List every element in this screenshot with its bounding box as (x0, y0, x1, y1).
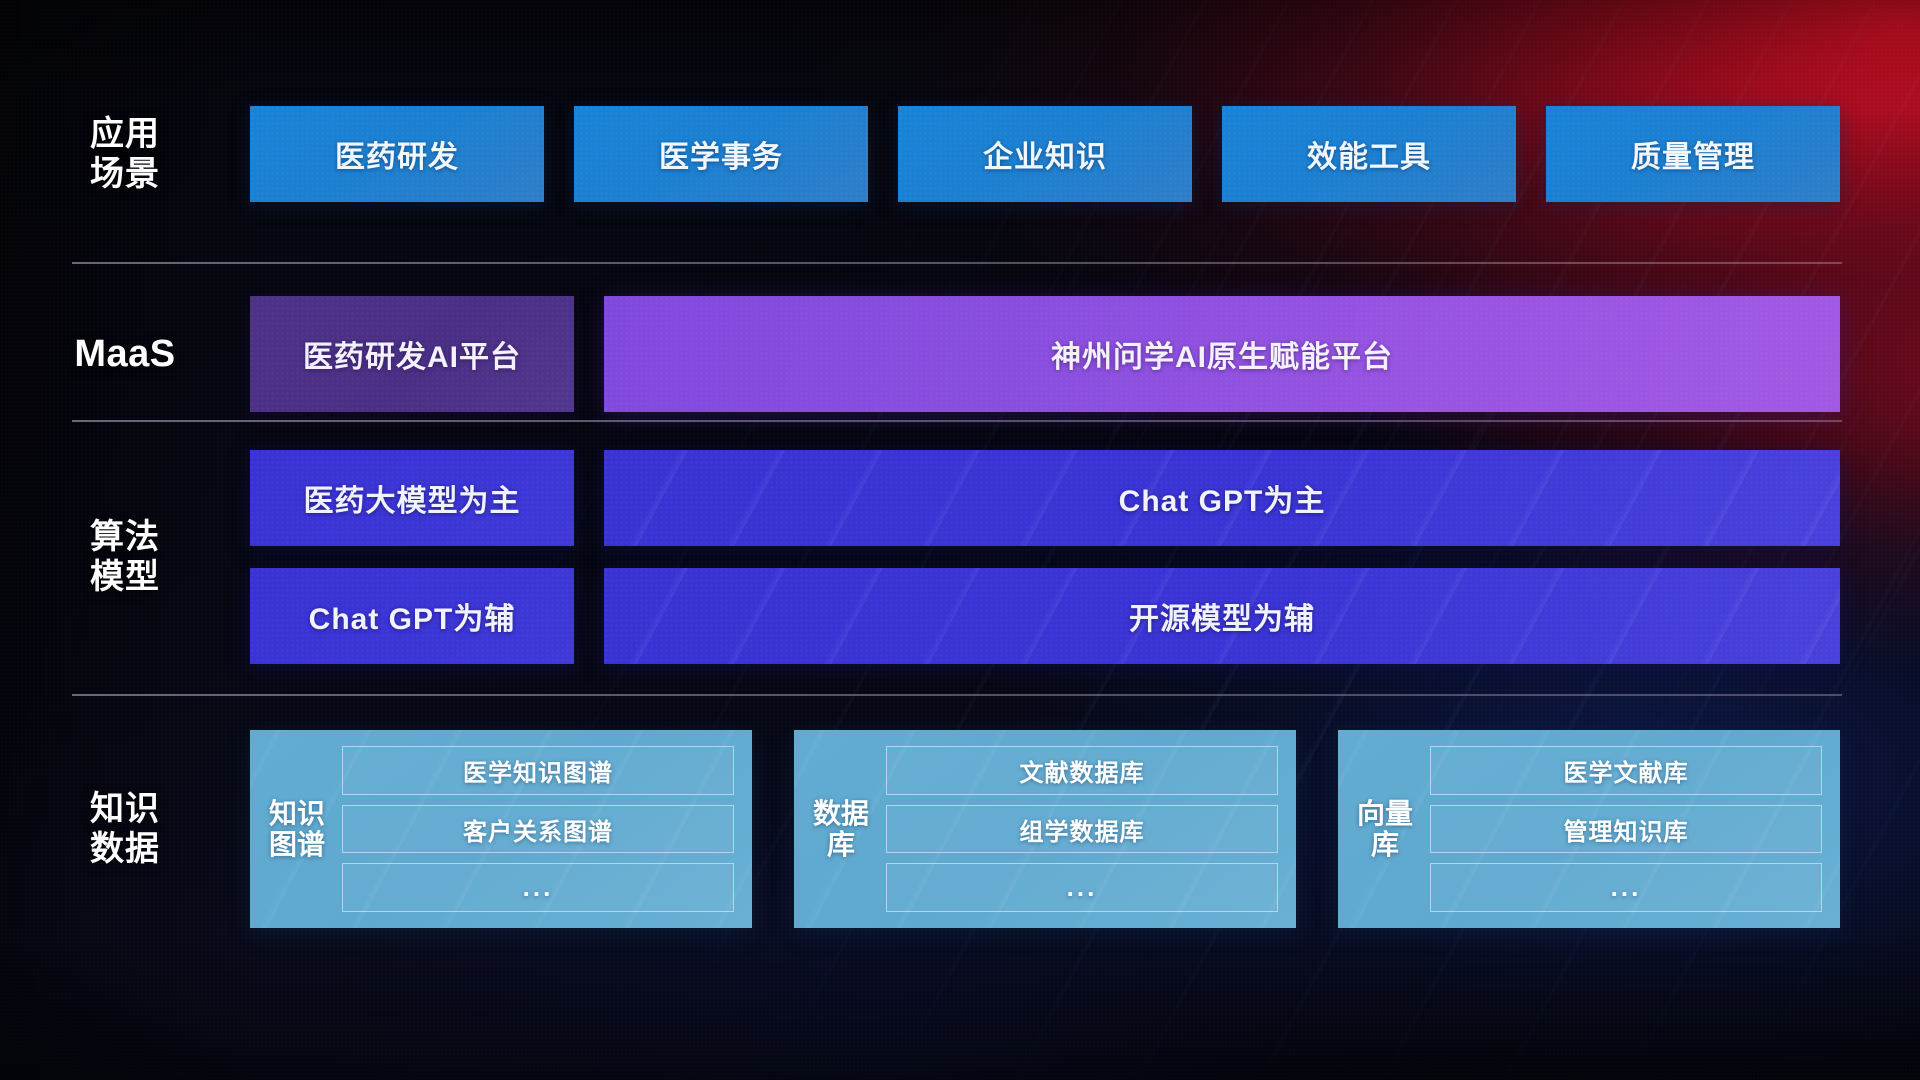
layer-body-maas: 医药研发AI平台 神州问学AI原生赋能平台 (190, 296, 1920, 412)
maas-card-list: 医药研发AI平台 神州问学AI原生赋能平台 (250, 296, 1840, 412)
knowledge-item-more[interactable]: ... (342, 863, 734, 912)
knowledge-item-medical-knowledge-graph[interactable]: 医学知识图谱 (342, 746, 734, 795)
knowledge-item-medical-literature-store[interactable]: 医学文献库 (1430, 746, 1822, 795)
layer-knowledge-data: 知识 数据 知识图谱 医学知识图谱 客户关系图谱 ... 数据库 (0, 730, 1920, 928)
knowledge-card-title: 知识图谱 (268, 746, 326, 912)
layer-label-algorithm: 算法 模型 (0, 517, 190, 597)
application-card-efficiency-tools[interactable]: 效能工具 (1222, 106, 1516, 202)
divider-application-maas (72, 262, 1842, 264)
knowledge-item-literature-database[interactable]: 文献数据库 (886, 746, 1278, 795)
algorithm-card-opensource-secondary[interactable]: 开源模型为辅 (604, 568, 1840, 664)
layer-label-algorithm-line2: 模型 (60, 557, 190, 597)
knowledge-item-list: 医学文献库 管理知识库 ... (1430, 746, 1822, 912)
knowledge-card-list: 知识图谱 医学知识图谱 客户关系图谱 ... 数据库 文献数据库 组学数据库 .… (250, 730, 1840, 928)
maas-card-drug-rd-ai-platform[interactable]: 医药研发AI平台 (250, 296, 574, 412)
application-card-label: 医药研发 (335, 132, 459, 176)
maas-card-shenzhou-wenxue-platform[interactable]: 神州问学AI原生赋能平台 (604, 296, 1840, 412)
algorithm-card-chatgpt-secondary[interactable]: Chat GPT为辅 (250, 568, 574, 664)
algorithm-card-label: 医药大模型为主 (304, 476, 521, 520)
layer-label-knowledge-line1: 知识 (60, 789, 190, 829)
divider-maas-algorithm (72, 420, 1842, 422)
knowledge-card-database[interactable]: 数据库 文献数据库 组学数据库 ... (794, 730, 1296, 928)
slide-canvas: 应用 场景 医药研发 医学事务 企业知识 效能工具 (0, 0, 1920, 1080)
application-card-enterprise-knowledge[interactable]: 企业知识 (898, 106, 1192, 202)
application-card-list: 医药研发 医学事务 企业知识 效能工具 质量管理 (250, 106, 1840, 202)
layer-application-scenarios: 应用 场景 医药研发 医学事务 企业知识 效能工具 (0, 106, 1920, 202)
knowledge-item-customer-relation-graph[interactable]: 客户关系图谱 (342, 805, 734, 854)
layer-label-application-line2: 场景 (60, 154, 190, 194)
layer-label-knowledge: 知识 数据 (0, 789, 190, 869)
knowledge-card-vector-store[interactable]: 向量库 医学文献库 管理知识库 ... (1338, 730, 1840, 928)
knowledge-card-knowledge-graph[interactable]: 知识图谱 医学知识图谱 客户关系图谱 ... (250, 730, 752, 928)
layer-label-maas: MaaS (0, 332, 190, 377)
layer-body-application: 医药研发 医学事务 企业知识 效能工具 质量管理 (190, 106, 1920, 202)
layer-label-algorithm-line1: 算法 (60, 517, 190, 557)
knowledge-card-title: 向量库 (1356, 746, 1414, 912)
algorithm-card-chatgpt-primary[interactable]: Chat GPT为主 (604, 450, 1840, 546)
algorithm-card-label: Chat GPT为辅 (309, 594, 516, 638)
architecture-diagram: 应用 场景 医药研发 医学事务 企业知识 效能工具 (0, 0, 1920, 1080)
knowledge-card-title: 数据库 (812, 746, 870, 912)
knowledge-item-omics-database[interactable]: 组学数据库 (886, 805, 1278, 854)
layer-body-knowledge: 知识图谱 医学知识图谱 客户关系图谱 ... 数据库 文献数据库 组学数据库 .… (190, 730, 1920, 928)
maas-card-label: 神州问学AI原生赋能平台 (1051, 332, 1393, 376)
application-card-label: 效能工具 (1307, 132, 1431, 176)
algorithm-card-label: Chat GPT为主 (1119, 476, 1326, 520)
algorithm-card-pharma-llm-primary[interactable]: 医药大模型为主 (250, 450, 574, 546)
knowledge-item-more[interactable]: ... (886, 863, 1278, 912)
algorithm-row-primary: 医药大模型为主 Chat GPT为主 (250, 450, 1840, 546)
algorithm-card-label: 开源模型为辅 (1129, 594, 1315, 638)
knowledge-item-list: 文献数据库 组学数据库 ... (886, 746, 1278, 912)
application-card-label: 企业知识 (983, 132, 1107, 176)
application-card-label: 质量管理 (1631, 132, 1755, 176)
layer-label-application-line1: 应用 (60, 114, 190, 154)
layer-label-application: 应用 场景 (0, 114, 190, 194)
knowledge-item-more[interactable]: ... (1430, 863, 1822, 912)
application-card-medical-affairs[interactable]: 医学事务 (574, 106, 868, 202)
layer-label-knowledge-line2: 数据 (60, 829, 190, 869)
knowledge-item-management-knowledge-store[interactable]: 管理知识库 (1430, 805, 1822, 854)
divider-algorithm-knowledge (72, 694, 1842, 696)
layer-body-algorithm: 医药大模型为主 Chat GPT为主 Chat GPT为辅 开源模型为辅 (190, 450, 1920, 664)
algorithm-row-secondary: Chat GPT为辅 开源模型为辅 (250, 568, 1840, 664)
layer-maas: MaaS 医药研发AI平台 神州问学AI原生赋能平台 (0, 296, 1920, 412)
algorithm-card-grid: 医药大模型为主 Chat GPT为主 Chat GPT为辅 开源模型为辅 (250, 450, 1840, 664)
maas-card-label: 医药研发AI平台 (303, 332, 521, 376)
knowledge-item-list: 医学知识图谱 客户关系图谱 ... (342, 746, 734, 912)
application-card-label: 医学事务 (659, 132, 783, 176)
application-card-quality-management[interactable]: 质量管理 (1546, 106, 1840, 202)
application-card-drug-rd[interactable]: 医药研发 (250, 106, 544, 202)
layer-algorithm-model: 算法 模型 医药大模型为主 Chat GPT为主 Chat (0, 450, 1920, 664)
